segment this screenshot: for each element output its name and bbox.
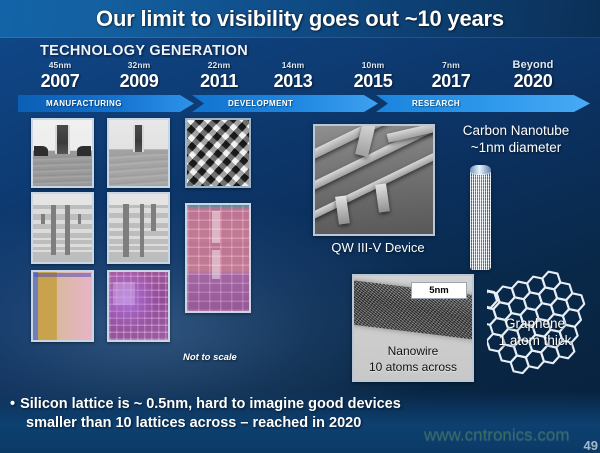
node-year-label: 2017	[412, 71, 490, 91]
node-year-label: 2011	[180, 71, 258, 91]
technology-timeline: 45nm 2007 32nm 2009 22nm 2011 14nm 2013 …	[0, 60, 600, 94]
timeline-node-2007: 45nm 2007	[21, 60, 99, 91]
metal-top-layer	[33, 194, 92, 205]
micrograph-fill	[187, 120, 249, 186]
scale-bar-label: 5nm	[411, 282, 467, 299]
node-size-label: 10nm	[334, 60, 412, 71]
carbon-nanotube-line1: Carbon Nanotube	[432, 122, 600, 139]
nanowire-caption-line2: 10 atoms across	[354, 360, 472, 375]
metal-layer	[109, 218, 168, 222]
qw-device-caption: QW III-V Device	[313, 240, 443, 255]
via-feature	[78, 214, 82, 224]
timeline-node-2013: 14nm 2013	[254, 60, 332, 91]
via-feature	[151, 204, 155, 231]
metal-layer	[109, 244, 168, 247]
node-size-label: Beyond	[494, 60, 572, 71]
micrograph-finfet-22nm	[185, 118, 251, 188]
metal-layer	[33, 250, 92, 252]
graphene-line1: Graphene	[470, 315, 600, 332]
bullet-line1: Silicon lattice is ~ 0.5nm, hard to imag…	[20, 396, 401, 412]
qw-pillar	[375, 183, 390, 212]
micrograph-nanowire: 5nm Nanowire 10 atoms across	[352, 274, 474, 382]
technology-generation-label: TECHNOLOGY GENERATION	[40, 43, 248, 59]
node-size-label: 7nm	[412, 60, 490, 71]
phase-label: MANUFACTURING	[18, 99, 122, 108]
site-watermark: www.cntronics.com	[424, 425, 569, 445]
die-fill	[33, 272, 92, 340]
substrate-feature	[33, 156, 92, 186]
bullet-marker: •	[10, 395, 15, 414]
node-size-label: 14nm	[254, 60, 332, 71]
die-core-block	[212, 211, 221, 243]
phase-arrow-research: RESEARCH	[376, 95, 590, 112]
micrograph-transistor-32nm	[107, 118, 170, 188]
node-year-label: 2007	[21, 71, 99, 91]
page-title: Our limit to visibility goes out ~10 yea…	[0, 0, 600, 38]
node-year-label: 2020	[494, 71, 572, 91]
metal-layer	[33, 238, 92, 241]
via-feature	[65, 205, 69, 255]
carbon-nanotube-graphic	[470, 165, 491, 270]
metal-layer	[109, 208, 168, 213]
phase-label: RESEARCH	[376, 99, 460, 108]
graphene-label: Graphene 1 atom thick	[470, 315, 600, 349]
substrate-feature	[109, 154, 168, 186]
metal-layer	[109, 236, 168, 239]
node-year-label: 2015	[334, 71, 412, 91]
via-feature	[140, 204, 145, 257]
via-feature	[123, 204, 129, 257]
metal-layer	[33, 229, 92, 232]
metal-layer	[109, 228, 168, 231]
carbon-nanotube-line2: ~1nm diameter	[432, 139, 600, 156]
die-shot-32nm	[107, 270, 170, 342]
die-shot-22nm-tall	[185, 203, 251, 313]
gate-feature	[55, 125, 69, 154]
via-feature	[51, 205, 56, 255]
die-edge-band	[34, 273, 91, 277]
node-size-label: 22nm	[180, 60, 258, 71]
micrograph-qw-iii-v-device	[313, 124, 435, 236]
phase-label: DEVELOPMENT	[192, 99, 293, 108]
die-core-block	[212, 250, 221, 280]
metal-layer	[33, 209, 92, 214]
carbon-nanotube-label: Carbon Nanotube ~1nm diameter	[432, 122, 600, 156]
slide-header: Our limit to visibility goes out ~10 yea…	[0, 0, 600, 38]
node-year-label: 2013	[254, 71, 332, 91]
nanowire-caption-line1: Nanowire	[354, 344, 472, 359]
node-size-label: 45nm	[21, 60, 99, 71]
phase-arrow-band: MANUFACTURING DEVELOPMENT RESEARCH	[18, 95, 590, 112]
micrograph-transistor-45nm	[31, 118, 94, 188]
metal-top-layer	[109, 194, 168, 205]
metal-layer	[109, 250, 168, 252]
node-size-label: 32nm	[100, 60, 178, 71]
timeline-node-2017: 7nm 2017	[412, 60, 490, 91]
micrograph-interconnect-45nm	[31, 192, 94, 264]
die-core-block	[113, 282, 135, 305]
slide-canvas: Our limit to visibility goes out ~10 yea…	[0, 0, 600, 453]
not-to-scale-note: Not to scale	[183, 352, 237, 363]
gate-feature	[133, 125, 145, 151]
page-number: 49	[584, 438, 598, 453]
phase-arrow-development: DEVELOPMENT	[192, 95, 378, 112]
node-year-label: 2009	[100, 71, 178, 91]
metal-layer	[33, 244, 92, 247]
timeline-node-2015: 10nm 2015	[334, 60, 412, 91]
timeline-node-2009: 32nm 2009	[100, 60, 178, 91]
phase-arrow-manufacturing: MANUFACTURING	[18, 95, 194, 112]
micrograph-interconnect-32nm	[107, 192, 170, 264]
graphene-line2: 1 atom thick	[470, 332, 600, 349]
timeline-node-2011: 22nm 2011	[180, 60, 258, 91]
timeline-node-2020: Beyond 2020	[494, 60, 572, 91]
die-shot-45nm	[31, 270, 94, 342]
via-feature	[41, 214, 45, 224]
